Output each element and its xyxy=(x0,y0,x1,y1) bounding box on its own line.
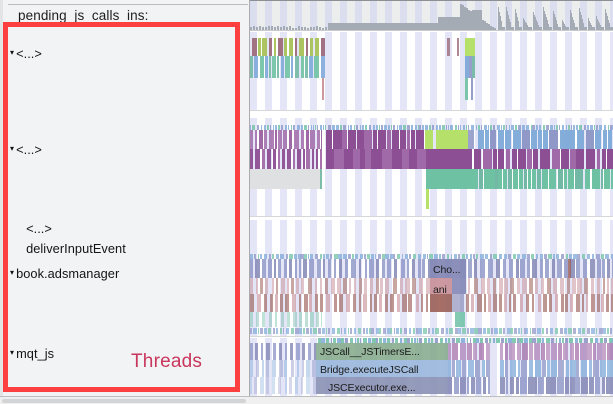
trace-slice[interactable] xyxy=(351,259,356,278)
trace-slice[interactable] xyxy=(280,328,282,334)
trace-slice[interactable] xyxy=(285,56,290,78)
trace-slice[interactable] xyxy=(260,278,263,294)
slice-band-row-jscall[interactable] xyxy=(250,343,613,360)
trace-slice[interactable] xyxy=(326,130,332,149)
trace-slice[interactable] xyxy=(529,360,534,377)
slice-band-row-c[interactable] xyxy=(250,78,613,100)
trace-slice[interactable] xyxy=(560,328,563,334)
trace-slice[interactable] xyxy=(371,149,381,169)
trace-slice[interactable] xyxy=(278,130,282,149)
trace-slice[interactable] xyxy=(603,328,606,334)
trace-slice[interactable] xyxy=(407,130,410,149)
trace-slice[interactable] xyxy=(510,278,514,294)
trace-slice[interactable] xyxy=(310,312,314,327)
trace-slice[interactable] xyxy=(299,328,302,334)
trace-slice[interactable] xyxy=(462,360,466,377)
trace-slice[interactable] xyxy=(499,294,502,312)
trace-slice[interactable] xyxy=(563,343,568,360)
trace-slice[interactable] xyxy=(412,259,415,278)
trace-slice[interactable] xyxy=(278,259,281,278)
trace-slice[interactable] xyxy=(353,149,360,169)
trace-slice[interactable] xyxy=(519,169,523,189)
trace-slice[interactable] xyxy=(468,278,470,294)
trace-slice[interactable] xyxy=(454,377,459,394)
trace-slice[interactable] xyxy=(532,328,536,334)
trace-slice[interactable] xyxy=(306,130,308,149)
trace-slice[interactable] xyxy=(265,278,268,294)
trace-slice[interactable] xyxy=(405,278,410,294)
trace-slice[interactable] xyxy=(472,56,475,78)
trace-slice[interactable] xyxy=(262,360,264,377)
trace-slice[interactable] xyxy=(586,130,594,149)
trace-slice[interactable] xyxy=(448,360,451,377)
trace-slice[interactable] xyxy=(583,259,587,278)
trace-slice[interactable] xyxy=(350,328,352,334)
trace-slice[interactable] xyxy=(286,328,290,334)
trace-slice[interactable] xyxy=(353,294,356,312)
trace-slice[interactable] xyxy=(568,328,572,334)
trace-slice[interactable] xyxy=(302,343,305,360)
trace-slice[interactable] xyxy=(370,278,372,294)
trace-slice[interactable] xyxy=(364,130,371,149)
trace-slice[interactable] xyxy=(301,56,304,78)
trace-slice[interactable] xyxy=(585,169,590,189)
trace-slice[interactable] xyxy=(283,328,285,334)
trace-slice[interactable] xyxy=(258,38,260,56)
trace-slice[interactable] xyxy=(468,360,474,377)
trace-slice[interactable] xyxy=(581,377,588,394)
trace-slice[interactable] xyxy=(272,377,275,394)
trace-slice[interactable] xyxy=(467,343,472,360)
trace-slice[interactable] xyxy=(449,328,453,334)
trace-slice[interactable] xyxy=(397,294,399,312)
trace-slice[interactable] xyxy=(565,294,567,312)
trace-slice[interactable] xyxy=(606,294,609,312)
trace-slice[interactable] xyxy=(558,360,564,377)
thread-track-group-3[interactable] xyxy=(250,220,613,254)
trace-slice[interactable] xyxy=(504,294,507,312)
trace-slice[interactable] xyxy=(322,328,325,334)
trace-slice[interactable] xyxy=(303,149,305,169)
trace-slice[interactable] xyxy=(561,294,564,312)
trace-slice[interactable] xyxy=(258,328,260,334)
trace-slice[interactable] xyxy=(491,328,493,334)
chevron-down-icon[interactable]: ▾ xyxy=(10,348,14,357)
trace-slice[interactable] xyxy=(250,130,253,149)
trace-slice[interactable] xyxy=(503,259,506,278)
trace-slice[interactable] xyxy=(276,328,278,334)
trace-slice[interactable] xyxy=(269,38,273,56)
trace-slice[interactable] xyxy=(561,149,564,169)
trace-slice[interactable] xyxy=(407,259,410,278)
trace-slice[interactable] xyxy=(264,130,267,149)
trace-slice[interactable] xyxy=(580,343,585,360)
trace-slice[interactable] xyxy=(586,294,588,312)
trace-slice[interactable] xyxy=(549,130,557,149)
trace-slice[interactable] xyxy=(503,328,505,334)
trace-slice[interactable] xyxy=(272,360,276,377)
trace-slice[interactable] xyxy=(305,312,307,327)
trace-slice[interactable] xyxy=(436,130,468,149)
trace-slice[interactable] xyxy=(484,294,486,312)
trace-slice[interactable] xyxy=(570,343,574,360)
trace-slice[interactable] xyxy=(526,328,528,334)
trace-slice[interactable] xyxy=(315,294,318,312)
trace-slice[interactable] xyxy=(470,169,478,189)
trace-slice[interactable] xyxy=(334,259,336,278)
trace-slice[interactable] xyxy=(586,149,596,169)
trace-slice[interactable] xyxy=(568,259,571,278)
trace-slice[interactable] xyxy=(264,294,267,312)
trace-slice[interactable] xyxy=(601,169,604,189)
trace-slice[interactable] xyxy=(441,328,445,334)
scrollbar-thumb[interactable] xyxy=(2,399,246,403)
trace-slice[interactable] xyxy=(465,38,475,56)
trace-slice[interactable] xyxy=(390,328,392,334)
trace-slice[interactable] xyxy=(250,312,253,327)
trace-slice[interactable] xyxy=(596,328,598,334)
trace-slice[interactable] xyxy=(401,259,405,278)
trace-slice[interactable] xyxy=(326,294,330,312)
trace-slice[interactable] xyxy=(543,130,548,149)
trace-slice[interactable] xyxy=(578,328,581,334)
trace-slice[interactable] xyxy=(278,377,281,394)
trace-slice[interactable] xyxy=(478,130,484,149)
trace-slice[interactable] xyxy=(380,278,383,294)
trace-slice[interactable] xyxy=(320,149,322,169)
trace-slice[interactable] xyxy=(593,360,598,377)
trace-slice[interactable] xyxy=(303,259,307,278)
slice-band-row-b[interactable] xyxy=(250,56,613,78)
trace-slice[interactable] xyxy=(504,278,508,294)
trace-slice[interactable] xyxy=(607,149,613,169)
trace-slice[interactable] xyxy=(284,259,287,278)
trace-slice[interactable] xyxy=(291,328,294,334)
trace-slice[interactable] xyxy=(376,278,379,294)
thread-track-group-1[interactable] xyxy=(250,32,613,110)
trace-slice[interactable] xyxy=(306,149,310,169)
trace-slice[interactable] xyxy=(308,278,313,294)
trace-slice[interactable] xyxy=(560,278,564,294)
slice-band-row-bridge[interactable] xyxy=(250,360,613,377)
trace-slice[interactable] xyxy=(337,328,340,334)
trace-slice[interactable] xyxy=(326,328,328,334)
trace-slice[interactable] xyxy=(250,294,254,312)
slice-label-1[interactable]: ani xyxy=(433,285,447,296)
trace-slice[interactable] xyxy=(412,278,416,294)
trace-slice[interactable] xyxy=(582,328,585,334)
trace-slice[interactable] xyxy=(374,294,377,312)
trace-slice[interactable] xyxy=(358,328,361,334)
trace-slice[interactable] xyxy=(476,377,481,394)
trace-slice[interactable] xyxy=(513,130,521,149)
trace-slice[interactable] xyxy=(607,278,609,294)
trace-slice[interactable] xyxy=(339,259,341,278)
trace-slice[interactable] xyxy=(432,328,434,334)
trace-slice[interactable] xyxy=(520,259,524,278)
trace-slice[interactable] xyxy=(558,169,563,189)
slice-band-row-5[interactable] xyxy=(250,328,613,334)
trace-slice[interactable] xyxy=(269,312,272,327)
trace-slice[interactable] xyxy=(540,149,550,169)
trace-slice[interactable] xyxy=(566,360,569,377)
trace-slice[interactable] xyxy=(371,328,373,334)
trace-slice[interactable] xyxy=(486,343,490,360)
slice-band-row-2[interactable] xyxy=(250,278,613,294)
trace-slice[interactable] xyxy=(334,294,337,312)
trace-slice[interactable] xyxy=(573,328,576,334)
slice-band-row-3[interactable] xyxy=(250,169,613,189)
trace-slice[interactable] xyxy=(297,149,301,169)
trace-slice[interactable] xyxy=(474,278,479,294)
trace-slice[interactable] xyxy=(526,294,529,312)
trace-slice[interactable] xyxy=(490,130,497,149)
trace-slice[interactable] xyxy=(409,328,412,334)
trace-slice[interactable] xyxy=(487,278,490,294)
trace-slice[interactable] xyxy=(560,130,569,149)
trace-slice[interactable] xyxy=(379,328,381,334)
trace-slice[interactable] xyxy=(272,56,276,78)
trace-slice[interactable] xyxy=(417,149,426,169)
trace-slice[interactable] xyxy=(564,169,567,189)
trace-slice[interactable] xyxy=(482,360,485,377)
slice-band-row-jscexecutor[interactable] xyxy=(250,377,613,394)
trace-slice[interactable] xyxy=(532,169,536,189)
trace-slice[interactable] xyxy=(603,278,605,294)
trace-slice[interactable] xyxy=(257,294,261,312)
trace-slice[interactable] xyxy=(402,294,406,312)
trace-slice[interactable] xyxy=(349,278,351,294)
trace-slice[interactable] xyxy=(289,130,292,149)
trace-slice[interactable] xyxy=(483,377,486,394)
trace-slice[interactable] xyxy=(289,38,293,56)
trace-slice[interactable] xyxy=(493,294,497,312)
slice-band-row-3[interactable] xyxy=(250,294,613,312)
trace-slice[interactable] xyxy=(393,278,398,294)
trace-slice[interactable] xyxy=(494,328,498,334)
trace-slice[interactable] xyxy=(284,38,287,56)
trace-slice[interactable] xyxy=(522,278,527,294)
trace-slice[interactable] xyxy=(483,149,492,169)
trace-slice[interactable] xyxy=(394,328,396,334)
trace-slice[interactable] xyxy=(589,377,594,394)
trace-slice[interactable] xyxy=(260,377,263,394)
trace-slice[interactable] xyxy=(477,294,481,312)
trace-slice[interactable] xyxy=(363,294,366,312)
trace-slice[interactable] xyxy=(465,78,468,100)
trace-slice[interactable] xyxy=(521,360,527,377)
trace-slice[interactable] xyxy=(602,377,605,394)
trace-slice[interactable] xyxy=(498,169,501,189)
trace-slice[interactable] xyxy=(606,377,613,394)
trace-slice[interactable] xyxy=(479,169,482,189)
trace-slice[interactable] xyxy=(385,294,388,312)
trace-slice[interactable] xyxy=(250,259,253,278)
slice-label-2[interactable]: JSCall__JSTimersE... xyxy=(320,347,420,358)
trace-slice[interactable] xyxy=(275,312,278,327)
trace-slice[interactable] xyxy=(462,328,466,334)
trace-slice[interactable] xyxy=(591,278,594,294)
trace-slice[interactable] xyxy=(287,312,290,327)
trace-slice[interactable] xyxy=(590,259,595,278)
trace-slice[interactable] xyxy=(490,169,494,189)
trace-slice[interactable] xyxy=(321,56,325,78)
trace-slice[interactable] xyxy=(599,328,603,334)
trace-slice[interactable] xyxy=(299,312,302,327)
trace-slice[interactable] xyxy=(447,38,450,56)
trace-slice[interactable] xyxy=(473,343,477,360)
trace-slice[interactable] xyxy=(528,169,531,189)
trace-slice[interactable] xyxy=(365,259,368,278)
trace-slice[interactable] xyxy=(518,360,521,377)
trace-slice[interactable] xyxy=(426,189,429,209)
thread-row-5[interactable]: ▾mqt_js xyxy=(10,345,54,361)
trace-slice[interactable] xyxy=(597,259,601,278)
trace-slice[interactable] xyxy=(312,149,314,169)
trace-slice[interactable] xyxy=(527,149,532,169)
trace-slice[interactable] xyxy=(480,259,485,278)
trace-slice[interactable] xyxy=(505,343,508,360)
trace-slice[interactable] xyxy=(416,130,424,149)
trace-slice[interactable] xyxy=(297,360,300,377)
trace-slice[interactable] xyxy=(268,328,271,334)
trace-slice[interactable] xyxy=(320,278,322,294)
trace-slice[interactable] xyxy=(295,377,299,394)
trace-slice[interactable] xyxy=(400,130,406,149)
trace-slice[interactable] xyxy=(426,149,472,169)
trace-slice[interactable] xyxy=(376,328,379,334)
trace-slice[interactable] xyxy=(262,38,266,56)
trace-slice[interactable] xyxy=(402,149,409,169)
trace-slice[interactable] xyxy=(285,343,287,360)
trace-slice[interactable] xyxy=(253,328,256,334)
trace-slice[interactable] xyxy=(537,169,541,189)
trace-slice[interactable] xyxy=(496,259,500,278)
trace-slice[interactable] xyxy=(272,278,275,294)
trace-slice[interactable] xyxy=(274,259,276,278)
trace-slice[interactable] xyxy=(516,259,519,278)
trace-slice[interactable] xyxy=(317,259,320,278)
trace-slice[interactable] xyxy=(387,259,391,278)
trace-slice[interactable] xyxy=(514,328,517,334)
trace-slice[interactable] xyxy=(289,377,292,394)
trace-slice[interactable] xyxy=(291,360,294,377)
trace-slice[interactable] xyxy=(310,130,314,149)
trace-slice[interactable] xyxy=(250,328,252,334)
trace-slice[interactable] xyxy=(270,294,273,312)
trace-slice[interactable] xyxy=(471,377,475,394)
trace-slice[interactable] xyxy=(321,130,322,149)
trace-slice[interactable] xyxy=(522,130,530,149)
trace-slice[interactable] xyxy=(607,360,613,377)
trace-slice[interactable] xyxy=(262,149,266,169)
trace-slice[interactable] xyxy=(280,294,282,312)
trace-slice[interactable] xyxy=(547,278,551,294)
trace-slice[interactable] xyxy=(382,149,392,169)
trace-slice[interactable] xyxy=(316,312,319,327)
trace-slice[interactable] xyxy=(365,149,370,169)
trace-slice[interactable] xyxy=(250,149,253,169)
trace-slice[interactable] xyxy=(538,377,544,394)
trace-slice[interactable] xyxy=(277,56,279,78)
trace-slice[interactable] xyxy=(289,259,292,278)
trace-slice[interactable] xyxy=(549,377,556,394)
trace-slice[interactable] xyxy=(507,328,510,334)
trace-slice[interactable] xyxy=(448,377,452,394)
trace-slice[interactable] xyxy=(285,377,287,394)
trace-slice[interactable] xyxy=(260,56,264,78)
trace-slice[interactable] xyxy=(572,278,576,294)
trace-slice[interactable] xyxy=(281,56,284,78)
trace-slice[interactable] xyxy=(390,294,394,312)
counter-chart-track[interactable] xyxy=(250,0,613,30)
trace-slice[interactable] xyxy=(576,360,579,377)
chevron-down-icon[interactable]: ▾ xyxy=(10,144,14,153)
trace-slice[interactable] xyxy=(382,259,384,278)
trace-slice[interactable] xyxy=(474,328,477,334)
trace-slice[interactable] xyxy=(557,377,564,394)
trace-slice[interactable] xyxy=(593,343,596,360)
trace-slice[interactable] xyxy=(320,294,323,312)
trace-slice[interactable] xyxy=(419,278,423,294)
trace-slice[interactable] xyxy=(547,360,550,377)
trace-slice[interactable] xyxy=(315,38,319,56)
trace-slice[interactable] xyxy=(455,312,465,327)
trace-slice[interactable] xyxy=(506,149,510,169)
trace-slice[interactable] xyxy=(299,294,301,312)
trace-slice[interactable] xyxy=(293,312,297,327)
trace-slice[interactable] xyxy=(313,328,316,334)
trace-slice[interactable] xyxy=(256,278,258,294)
trace-slice[interactable] xyxy=(493,149,497,169)
trace-slice[interactable] xyxy=(531,377,536,394)
trace-slice[interactable] xyxy=(498,130,504,149)
trace-slice[interactable] xyxy=(521,328,523,334)
trace-slice[interactable] xyxy=(383,328,386,334)
trace-slice[interactable] xyxy=(488,294,491,312)
trace-slice[interactable] xyxy=(541,343,545,360)
trace-slice[interactable] xyxy=(495,169,497,189)
trace-slice[interactable] xyxy=(273,149,276,169)
trace-slice[interactable] xyxy=(266,360,269,377)
trace-slice[interactable] xyxy=(304,294,307,312)
trace-slice[interactable] xyxy=(460,343,465,360)
trace-slice[interactable] xyxy=(354,278,356,294)
trace-slice[interactable] xyxy=(452,294,464,312)
trace-slice[interactable] xyxy=(299,259,301,278)
trace-slice[interactable] xyxy=(418,259,420,278)
trace-slice[interactable] xyxy=(359,278,362,294)
trace-slice[interactable] xyxy=(321,38,325,56)
trace-slice[interactable] xyxy=(342,130,347,149)
trace-slice[interactable] xyxy=(278,149,280,169)
trace-slice[interactable] xyxy=(435,328,439,334)
trace-slice[interactable] xyxy=(527,259,530,278)
trace-slice[interactable] xyxy=(418,328,421,334)
trace-slice[interactable] xyxy=(328,259,331,278)
trace-slice[interactable] xyxy=(250,169,322,189)
trace-slice[interactable] xyxy=(301,278,304,294)
trace-slice[interactable] xyxy=(273,343,276,360)
trace-slice[interactable] xyxy=(255,149,259,169)
trace-slice[interactable] xyxy=(589,360,593,377)
trace-slice[interactable] xyxy=(532,259,537,278)
trace-slice[interactable] xyxy=(486,360,490,377)
trace-slice[interactable] xyxy=(348,328,350,334)
trace-slice[interactable] xyxy=(538,130,542,149)
trace-slice[interactable] xyxy=(513,294,516,312)
trace-slice[interactable] xyxy=(535,278,539,294)
